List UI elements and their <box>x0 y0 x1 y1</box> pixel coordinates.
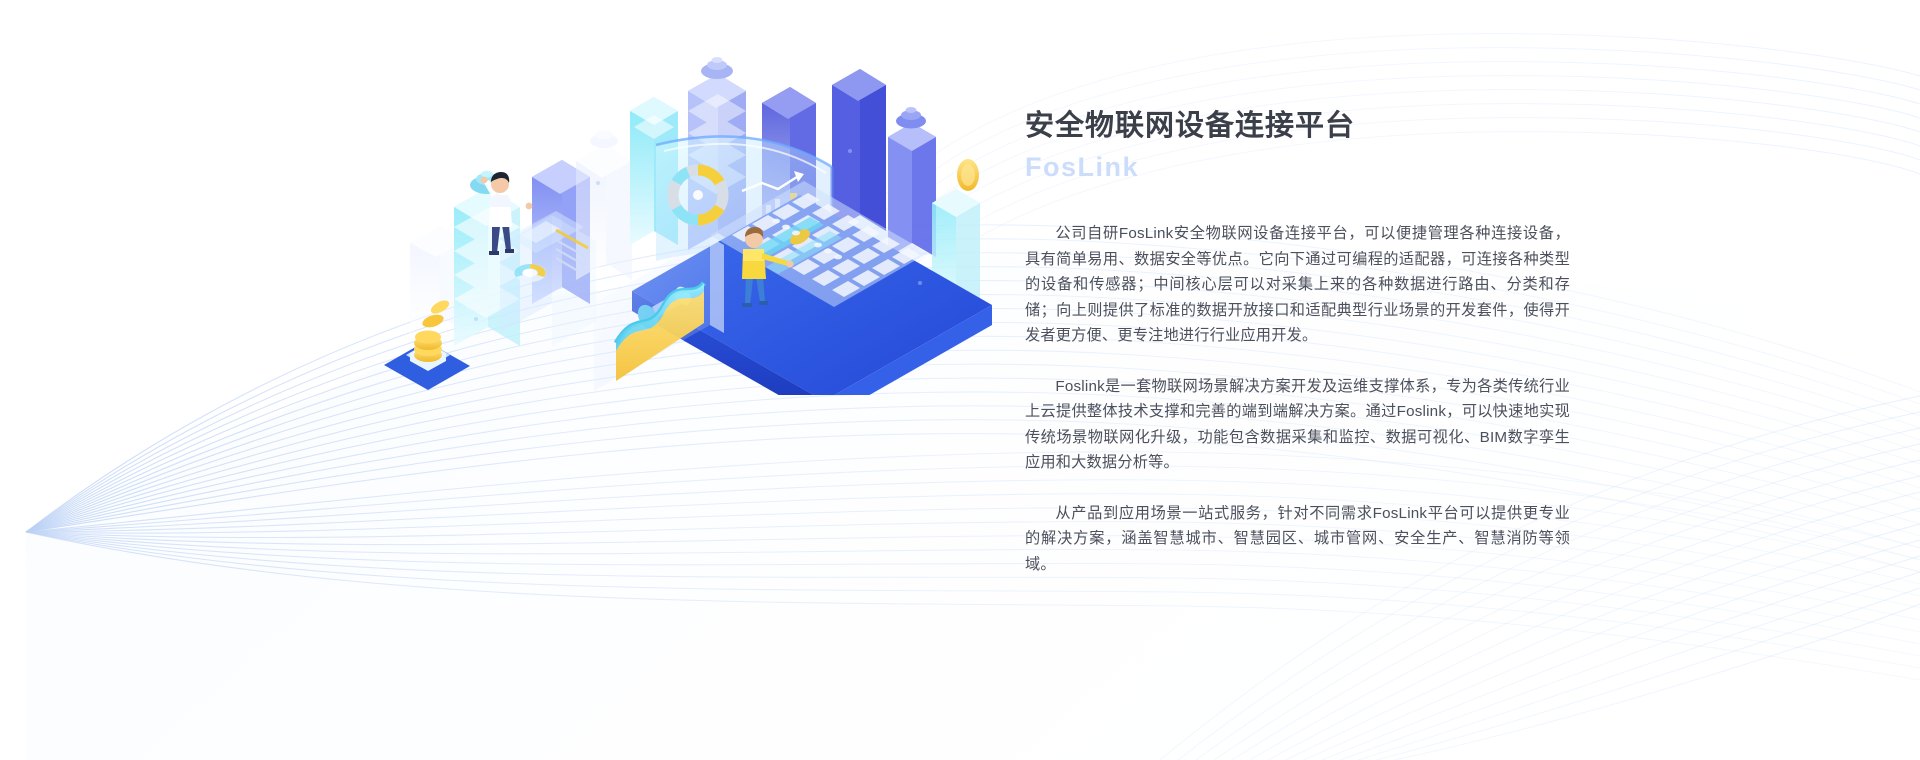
paragraph-1: 公司自研FosLink安全物联网设备连接平台，可以便捷管理各种连接设备，具有简单… <box>1025 221 1570 349</box>
page-stage: 安全物联网设备连接平台 FosLink 公司自研FosLink安全物联网设备连接… <box>0 0 1920 760</box>
page-title: 安全物联网设备连接平台 <box>1025 108 1570 144</box>
page-subtitle: FosLink <box>1025 150 1570 185</box>
paragraph-3: 从产品到应用场景一站式服务，针对不同需求FosLink平台可以提供更专业的解决方… <box>1025 501 1570 578</box>
paragraph-2: Foslink是一套物联网场景解决方案开发及运维支撑体系，专为各类传统行业上云提… <box>1025 374 1570 476</box>
hero-text-column: 安全物联网设备连接平台 FosLink 公司自研FosLink安全物联网设备连接… <box>1025 108 1570 577</box>
description-block: 公司自研FosLink安全物联网设备连接平台，可以便捷管理各种连接设备，具有简单… <box>1025 221 1570 577</box>
isometric-iot-platform-illustration <box>380 55 1000 395</box>
